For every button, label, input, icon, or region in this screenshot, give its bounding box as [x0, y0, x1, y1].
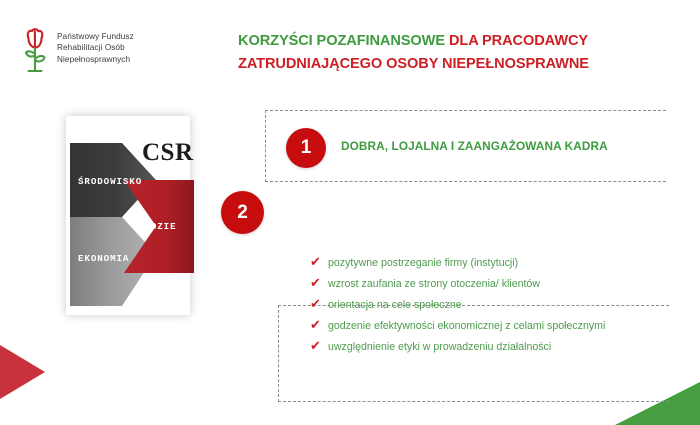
list-item-label: orientacja na cele społeczne — [328, 298, 462, 312]
title-part-green: KORZYŚCI POZAFINANSOWE — [238, 33, 445, 49]
slide-title: KORZYŚCI POZAFINANSOWE DLA PRACODAWCY ZA… — [238, 30, 678, 76]
csr-label-ekonomia: EKONOMIA — [78, 253, 129, 264]
organization-logo: Państwowy Fundusz Rehabilitacji Osób Nie… — [20, 26, 134, 74]
check-icon: ✔ — [310, 276, 324, 290]
badge-number-1[interactable]: 1 — [286, 128, 326, 168]
list-item-label: uwzględnienie etyki w prowadzeniu działa… — [328, 340, 551, 354]
check-icon: ✔ — [310, 339, 324, 353]
check-icon: ✔ — [310, 297, 324, 311]
logo-text-block: Państwowy Fundusz Rehabilitacji Osób Nie… — [57, 26, 134, 65]
list-item: ✔ godzenie efektywności ekonomicznej z c… — [310, 319, 640, 333]
badge-number-2[interactable]: 2 — [221, 191, 264, 234]
list-item: ✔ wzrost zaufania ze strony otoczenia/ k… — [310, 277, 640, 291]
decoration-red-triangle-left — [0, 345, 45, 399]
benefits-list: ✔ pozytywne postrzeganie firmy (instytuc… — [310, 256, 640, 361]
csr-label-ludzie: LUDZIE — [138, 221, 176, 232]
list-item-label: godzenie efektywności ekonomicznej z cel… — [328, 319, 605, 333]
title-part-red: DLA PRACODAWCY — [445, 33, 588, 49]
logo-line-1: Państwowy Fundusz — [57, 31, 134, 42]
tulip-flower-icon — [20, 26, 52, 74]
logo-line-3: Niepełnosprawnych — [57, 54, 134, 65]
item-1-headline: DOBRA, LOJALNA I ZAANGAŻOWANA KADRA — [341, 139, 608, 153]
csr-diagram: CSR ŚRODOWISKO EKONOMIA LUDZIE — [66, 116, 226, 315]
check-icon: ✔ — [310, 255, 324, 269]
title-line-1: KORZYŚCI POZAFINANSOWE DLA PRACODAWCY — [238, 30, 678, 53]
list-item-label: wzrost zaufania ze strony otoczenia/ kli… — [328, 277, 540, 291]
slide-canvas: Państwowy Fundusz Rehabilitacji Osób Nie… — [0, 0, 700, 425]
csr-title: CSR — [142, 139, 194, 166]
list-item: ✔ uwzględnienie etyki w prowadzeniu dzia… — [310, 340, 640, 354]
logo-line-2: Rehabilitacji Osób — [57, 42, 134, 53]
list-item-label: pozytywne postrzeganie firmy (instytucji… — [328, 256, 518, 270]
csr-label-srodowisko: ŚRODOWISKO — [78, 176, 142, 187]
title-line-2: ZATRUDNIAJĄCEGO OSOBY NIEPEŁNOSPRAWNE — [238, 53, 678, 76]
list-item: ✔ orientacja na cele społeczne — [310, 298, 640, 312]
check-icon: ✔ — [310, 318, 324, 332]
list-item: ✔ pozytywne postrzeganie firmy (instytuc… — [310, 256, 640, 270]
